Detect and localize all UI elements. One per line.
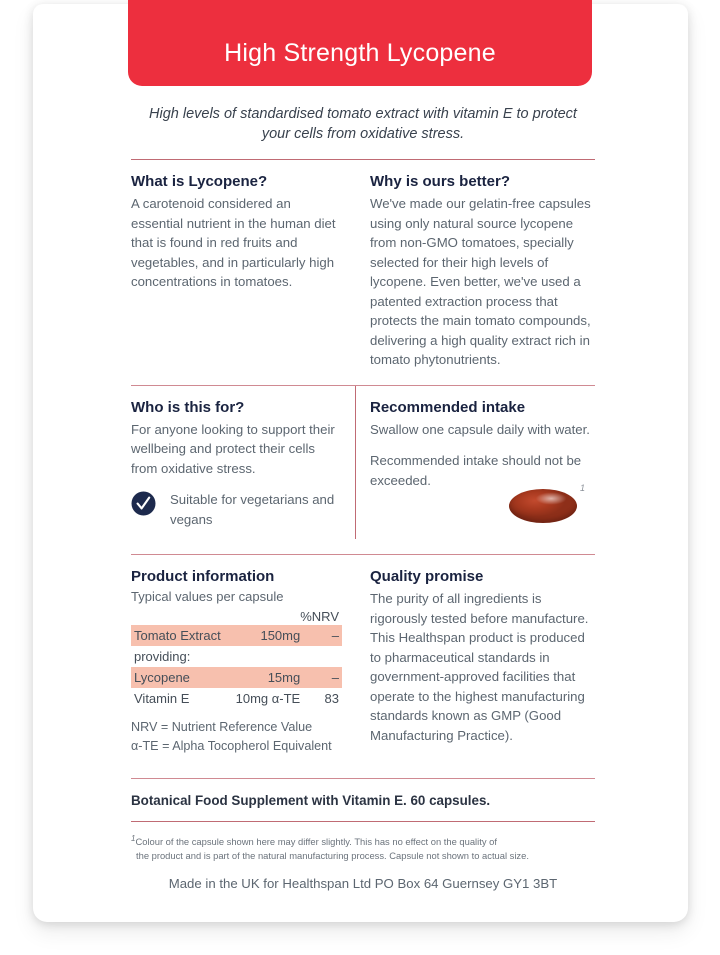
nutrition-cell-name: Lycopene bbox=[131, 667, 229, 688]
fine-print-line-2: the product and is part of the natural m… bbox=[131, 849, 595, 863]
nutrition-cell-name: Tomato Extract bbox=[131, 625, 229, 646]
divider-footer-top bbox=[131, 778, 595, 779]
section-about: What is Lycopene? A carotenoid considere… bbox=[131, 160, 595, 370]
supplement-description: Botanical Food Supplement with Vitamin E… bbox=[131, 793, 595, 808]
nutrition-row: Lycopene15mg– bbox=[131, 667, 342, 688]
heading-what-is-lycopene: What is Lycopene? bbox=[131, 173, 342, 190]
section-audience-intake: Who is this for? For anyone looking to s… bbox=[131, 386, 595, 540]
column-quality-promise: Quality promise The purity of all ingred… bbox=[356, 555, 595, 756]
text-who-is-this-for: For anyone looking to support their well… bbox=[131, 420, 342, 479]
capsule-image-wrap: 1 bbox=[509, 483, 585, 525]
nutrition-cell-amount bbox=[229, 646, 300, 667]
label-content: High levels of standardised tomato extra… bbox=[131, 104, 595, 891]
nutrition-cell-nrv: 83 bbox=[300, 688, 342, 709]
nutrition-row: Vitamin E10mg α-TE83 bbox=[131, 688, 342, 709]
nutrition-cell-amount: 150mg bbox=[229, 625, 300, 646]
heading-recommended-intake: Recommended intake bbox=[370, 399, 595, 416]
column-why-ours-better: Why is ours better? We've made our gelat… bbox=[356, 160, 595, 370]
nutrition-header-row: %NRV bbox=[131, 606, 342, 625]
heading-why-ours-better: Why is ours better? bbox=[370, 173, 595, 190]
check-circle-icon bbox=[131, 491, 156, 516]
fine-print: 1Colour of the capsule shown here may di… bbox=[131, 832, 595, 862]
header-banner: High Strength Lycopene bbox=[128, 0, 592, 86]
column-product-information: Product information Typical values per c… bbox=[131, 555, 356, 756]
product-subtitle: High levels of standardised tomato extra… bbox=[131, 104, 595, 144]
subheading-typical-values: Typical values per capsule bbox=[131, 589, 342, 604]
note-nrv: NRV = Nutrient Reference Value bbox=[131, 718, 342, 737]
column-who-is-this-for: Who is this for? For anyone looking to s… bbox=[131, 386, 356, 530]
heading-product-information: Product information bbox=[131, 568, 342, 585]
nutrition-cell-amount: 15mg bbox=[229, 667, 300, 688]
nutrition-header-nrv: %NRV bbox=[300, 606, 342, 625]
column-what-is-lycopene: What is Lycopene? A carotenoid considere… bbox=[131, 160, 356, 370]
product-title: High Strength Lycopene bbox=[224, 39, 496, 68]
vegetarian-badge-row: Suitable for vegetarians and vegans bbox=[131, 490, 342, 529]
nutrition-table: %NRV Tomato Extract150mg–providing:Lycop… bbox=[131, 606, 342, 709]
nutrition-cell-name: providing: bbox=[131, 646, 229, 667]
nutrition-cell-nrv bbox=[300, 646, 342, 667]
nutrition-cell-name: Vitamin E bbox=[131, 688, 229, 709]
text-why-ours-better: We've made our gelatin-free capsules usi… bbox=[370, 194, 595, 370]
nutrition-table-body: Tomato Extract150mg–providing:Lycopene15… bbox=[131, 625, 342, 709]
fine-print-line-1: Colour of the capsule shown here may dif… bbox=[135, 836, 497, 847]
nutrition-header-name bbox=[131, 606, 229, 625]
nutrition-cell-amount: 10mg α-TE bbox=[229, 688, 300, 709]
product-label-page: High Strength Lycopene High levels of st… bbox=[0, 0, 720, 955]
capsule-footnote-marker: 1 bbox=[580, 483, 585, 493]
vertical-divider bbox=[355, 386, 356, 540]
column-recommended-intake: Recommended intake Swallow one capsule d… bbox=[356, 386, 595, 530]
made-in-statement: Made in the UK for Healthspan Ltd PO Box… bbox=[131, 876, 595, 891]
divider-footer-bottom bbox=[131, 821, 595, 822]
nutrition-row: Tomato Extract150mg– bbox=[131, 625, 342, 646]
section-info-quality: Product information Typical values per c… bbox=[131, 555, 595, 756]
nutrition-header-amount bbox=[229, 606, 300, 625]
text-intake-instruction: Swallow one capsule daily with water. bbox=[370, 420, 595, 440]
note-alpha-te: α-TE = Alpha Tocopherol Equivalent bbox=[131, 737, 342, 756]
vegetarian-badge-label: Suitable for vegetarians and vegans bbox=[170, 490, 342, 529]
heading-quality-promise: Quality promise bbox=[370, 568, 595, 585]
text-what-is-lycopene: A carotenoid considered an essential nut… bbox=[131, 194, 342, 292]
text-quality-promise: The purity of all ingredients is rigorou… bbox=[370, 589, 595, 745]
nutrition-cell-nrv: – bbox=[300, 625, 342, 646]
nutrition-cell-nrv: – bbox=[300, 667, 342, 688]
nutrition-row: providing: bbox=[131, 646, 342, 667]
capsule-icon bbox=[509, 489, 577, 523]
heading-who-is-this-for: Who is this for? bbox=[131, 399, 342, 416]
